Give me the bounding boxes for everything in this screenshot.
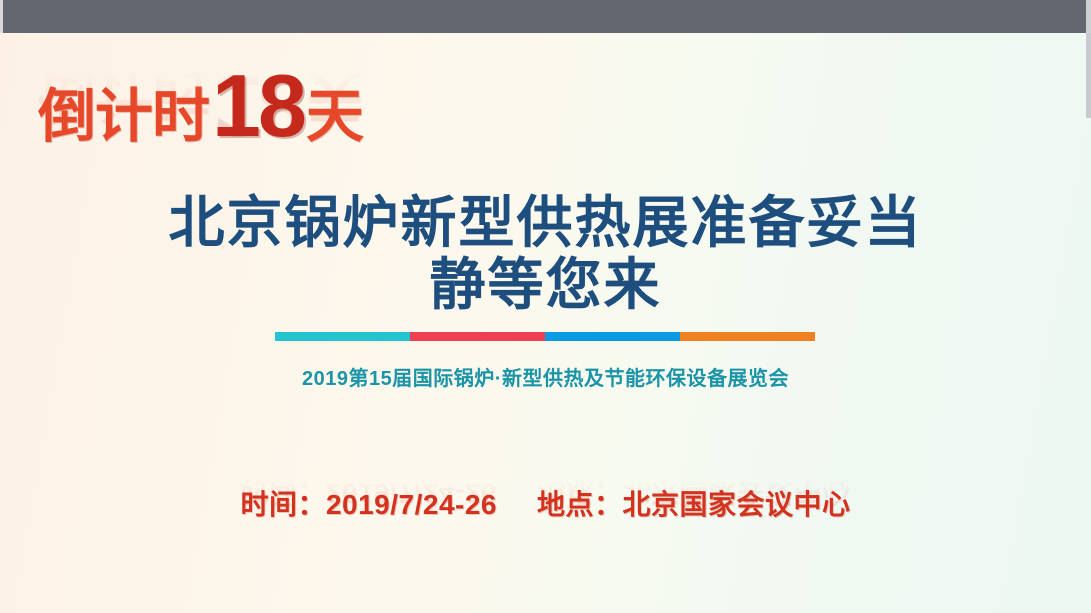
event-time-value: 2019/7/24-26 [326, 489, 497, 520]
countdown-prefix-label: 倒计时 [38, 88, 209, 146]
countdown-suffix-label: 天 [306, 88, 363, 146]
color-bar-segment-orange [680, 332, 815, 341]
color-bar-segment-crimson [410, 332, 545, 341]
right-edge-rail [1086, 33, 1091, 118]
page-title: 北京锅炉新型供热展准备妥当 静等您来 [0, 192, 1091, 316]
color-bar-segment-teal [275, 332, 410, 341]
top-bar-left-edge [0, 0, 3, 33]
event-details: 时间：2019/7/24-26地点：北京国家会议中心 [0, 483, 1091, 523]
countdown-block: 倒计时 18 天 [38, 62, 363, 150]
color-bar-segment-blue [545, 332, 680, 341]
countdown-days-number: 18 [212, 62, 304, 150]
event-subtitle: 2019第15届国际锅炉·新型供热及节能环保设备展览会 [0, 362, 1091, 391]
poster-canvas: 倒计时 18 天 倒计时 18 天 北京锅炉新型供热展准备妥当 静等您来 201… [0, 0, 1091, 613]
top-bar-right-edge [1086, 0, 1091, 33]
event-place-value: 北京国家会议中心 [623, 489, 851, 520]
top-gray-bar [0, 0, 1091, 33]
event-time-label: 时间： [240, 489, 326, 520]
headline-line-1: 北京锅炉新型供热展准备妥当 [0, 192, 1091, 254]
event-place-label: 地点： [537, 489, 623, 520]
decorative-color-bar [275, 332, 815, 341]
headline-line-2: 静等您来 [0, 254, 1091, 316]
